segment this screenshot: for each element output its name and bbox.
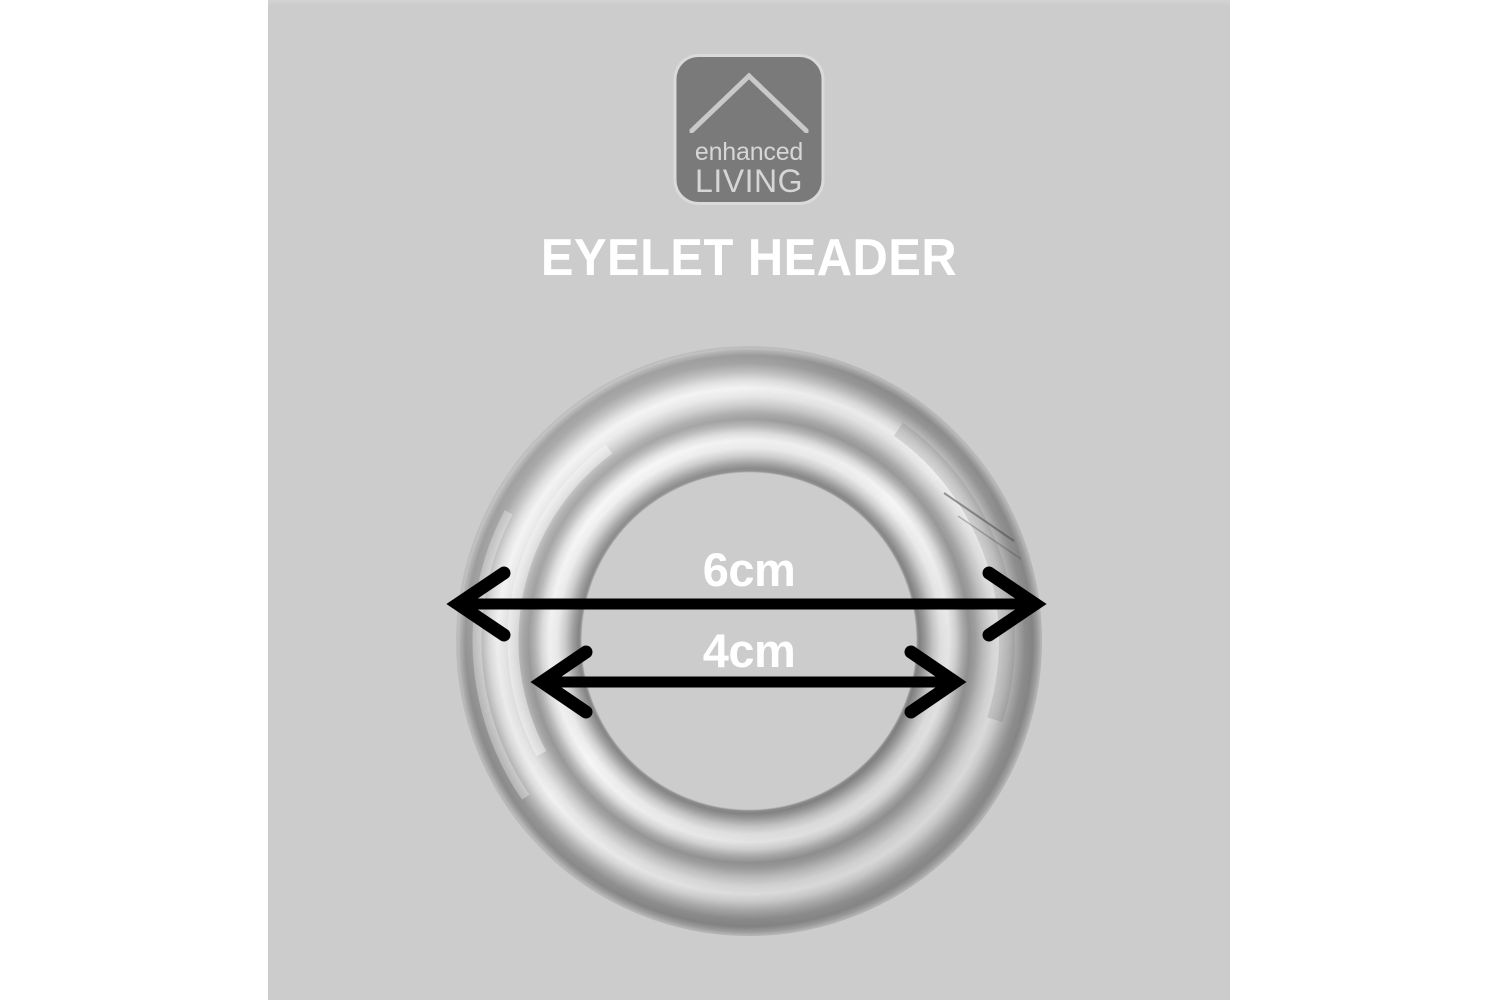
inner-diameter-label: 4cm xyxy=(268,627,1230,674)
product-panel: enhanced LIVING EYELET HEADER xyxy=(268,0,1230,1000)
outer-diameter-label: 6cm xyxy=(268,546,1230,593)
brand-name-line1: enhanced xyxy=(677,140,822,165)
house-roof-icon xyxy=(690,71,809,133)
brand-name-line2: LIVING xyxy=(677,165,822,197)
brand-logo: enhanced LIVING xyxy=(677,57,822,202)
product-image-canvas: enhanced LIVING EYELET HEADER xyxy=(0,0,1500,1000)
page-title: EYELET HEADER xyxy=(297,228,1201,288)
panel-top-sheen xyxy=(268,0,1230,6)
